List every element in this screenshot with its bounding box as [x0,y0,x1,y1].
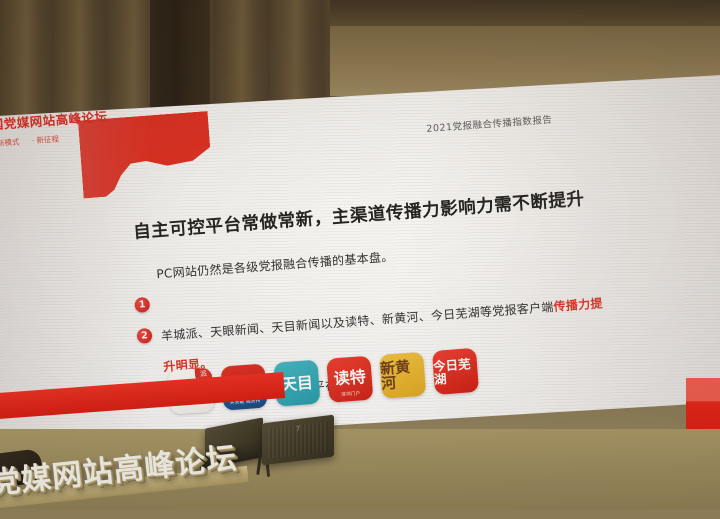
forum-banner-sub-2: · 新征程 [31,134,59,145]
logo-xinhuanghe: 新黄河 [379,352,426,399]
bullet-badge-2: 2 [136,328,152,344]
slide-header-text: 2021党报融合传播指数报告 [426,112,553,135]
logo-tianmu-main: 天目 [280,374,313,391]
logo-jinriwuhu: 今日芜湖 [432,348,479,395]
bullet-text-2-highlight: 传播力提 [553,296,603,314]
monitor-number-label: 7 [296,425,300,434]
logo-dute: 读特 深圳门户 [326,356,373,403]
logo-dute-main: 读特 [333,369,366,386]
forum-banner-sub-1: · 新模式 [0,137,20,148]
logo-xinhuanghe-main: 新黄河 [380,359,426,392]
slide-title: 自主可控平台常做常新，主渠道传播力影响力需不断提升 [132,185,585,243]
ceiling-beam [330,0,720,26]
forum-banner-left-subtitle: · 新模式 · 新征程 [0,130,110,150]
logo-dute-sub: 深圳门户 [341,391,361,398]
forum-banner-left: 国党媒网站高峰论坛 · 新模式 · 新征程 [0,106,112,172]
logo-jinriwuhu-main: 今日芜湖 [433,357,479,386]
bullet-badge-1: 1 [134,297,150,313]
